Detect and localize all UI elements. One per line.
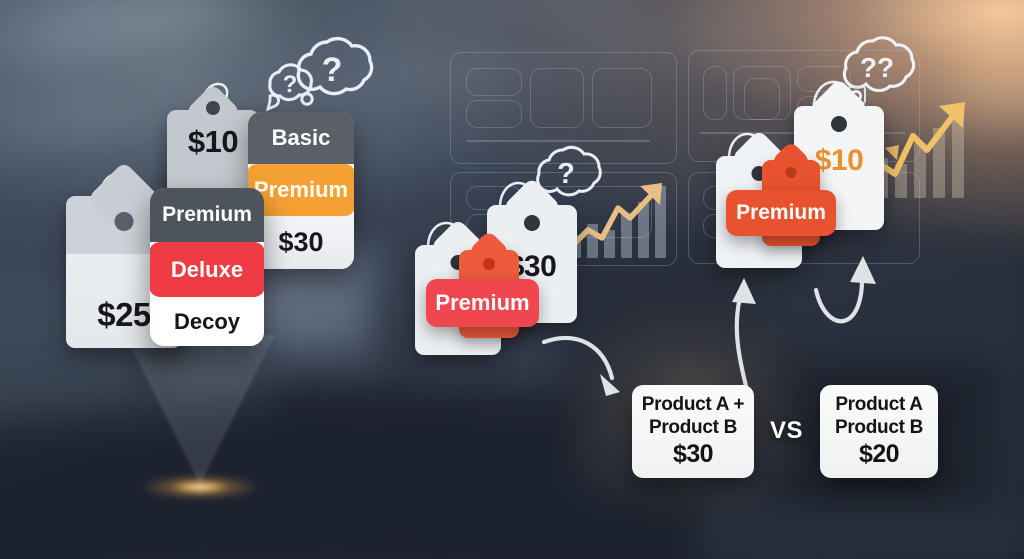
decoy-stack-card[interactable]: Premium Deluxe Decoy xyxy=(150,188,264,346)
comparison-card-bundle-amount: $30 xyxy=(673,440,713,469)
decoy-stack-row-premium[interactable]: Premium xyxy=(150,188,264,242)
thought-bubble-right-text: ?? xyxy=(860,52,894,83)
decoy-stack-row-premium-label: Premium xyxy=(162,203,252,227)
premium-label-right-text: Premium xyxy=(736,201,826,225)
pricing-card-row-premium-label: Premium xyxy=(254,177,348,203)
decoy-stack-row-deluxe-label: Deluxe xyxy=(171,257,243,283)
pricing-card-row-price-label: $30 xyxy=(278,227,323,258)
comparison-card-bundle-line2: Product B xyxy=(649,417,737,439)
premium-label-right[interactable]: Premium xyxy=(726,190,836,236)
thought-bubble-large: ? xyxy=(283,25,393,125)
price-tag-10: $10 xyxy=(167,110,259,196)
price-tag-10-value: $10 xyxy=(167,124,259,160)
premium-label-middle-text: Premium xyxy=(435,290,529,316)
premium-label-middle[interactable]: Premium xyxy=(426,279,539,327)
versus-label: VS xyxy=(770,417,803,445)
comparison-card-separate[interactable]: Product A Product B $20 xyxy=(820,385,938,478)
pricing-card-row-basic-label: Basic xyxy=(272,125,331,151)
comparison-card-separate-line2: Product B xyxy=(835,417,923,439)
thought-bubble-large-text: ? xyxy=(322,51,343,89)
comparison-card-bundle[interactable]: Product A + Product B $30 xyxy=(632,385,754,478)
comparison-card-separate-line1: Product A xyxy=(835,394,922,416)
thought-bubble-middle-text: ? xyxy=(557,158,575,190)
pricing-card-row-basic[interactable]: Basic xyxy=(248,112,354,164)
decoy-stack-row-deluxe[interactable]: Deluxe xyxy=(150,242,264,297)
decoy-stack-row-decoy-label: Decoy xyxy=(174,309,240,335)
illustration-canvas: ? ? $25 $10 Basic Premium $30 xyxy=(0,0,1024,559)
decoy-stack-row-decoy[interactable]: Decoy xyxy=(150,297,264,346)
comparison-card-bundle-line1: Product A + xyxy=(642,394,744,416)
comparison-card-separate-amount: $20 xyxy=(859,440,899,469)
